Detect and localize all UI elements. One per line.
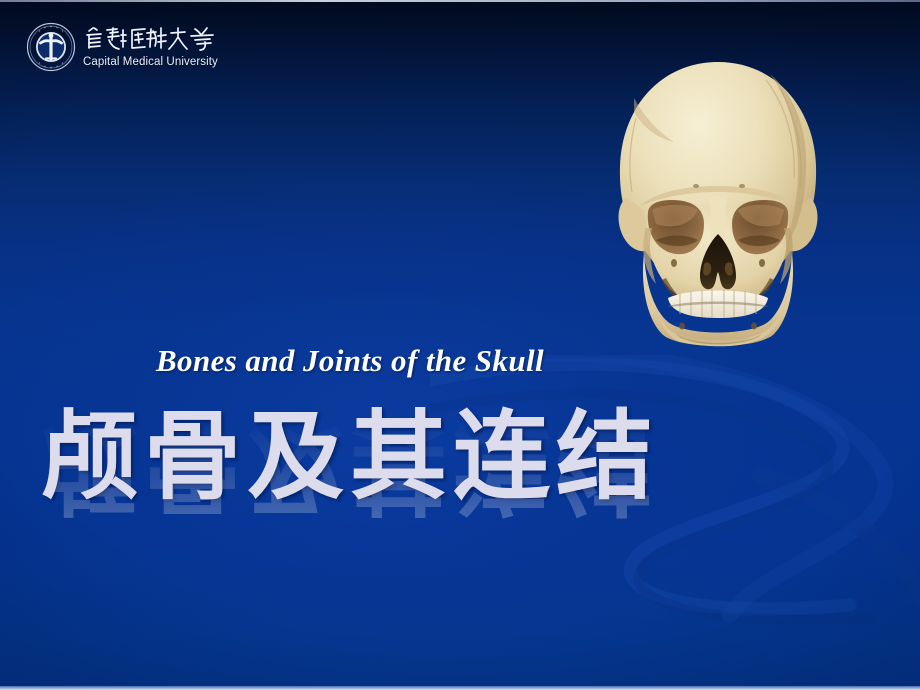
slide-title-chinese: 颅骨及其连结 — [0, 406, 700, 509]
presentation-slide: Capital Medical University Bones and Joi… — [0, 0, 920, 690]
university-name-cn — [83, 26, 223, 54]
university-crest-icon — [26, 22, 76, 72]
university-logo: Capital Medical University — [26, 22, 223, 72]
slide-top-border — [0, 0, 920, 2]
slide-bottom-border — [0, 686, 920, 690]
slide-title-english: Bones and Joints of the Skull — [0, 343, 700, 379]
university-name-en: Capital Medical University — [83, 57, 223, 69]
human-skull-anterior-view-icon — [600, 58, 836, 358]
